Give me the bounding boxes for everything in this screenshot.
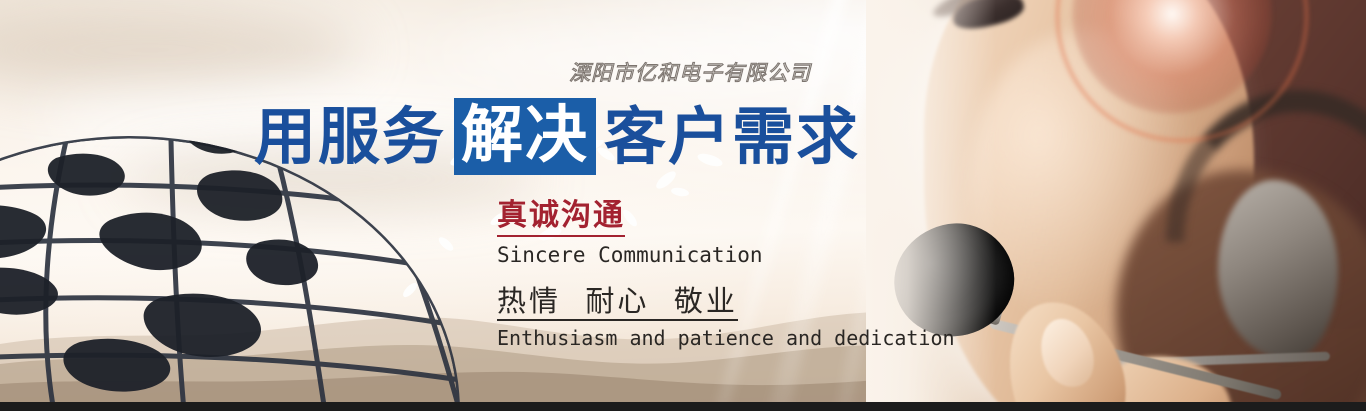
headline-part-before: 用服务 bbox=[252, 106, 448, 168]
headline-highlight: 解决 bbox=[454, 98, 596, 175]
company-name: 溧阳市亿和电子有限公司 bbox=[569, 57, 811, 87]
hero-banner: 溧阳市亿和电子有限公司 用服务 解决 客户需求 真诚沟通 Sincere Com… bbox=[0, 0, 1366, 411]
bottom-bar bbox=[0, 402, 1366, 411]
slogan-cn-sincere: 真诚沟通 bbox=[497, 199, 625, 237]
cloud-shape bbox=[0, 10, 360, 90]
headline-part-after: 客户需求 bbox=[602, 106, 862, 168]
headline: 用服务 解决 客户需求 bbox=[252, 98, 862, 175]
slogan-cn-enthusiasm: 热情 耐心 敬业 bbox=[497, 285, 738, 321]
slogan-en-enthusiasm: Enthusiasm and patience and dedication bbox=[497, 327, 955, 349]
slogan-en-sincere: Sincere Communication bbox=[497, 244, 955, 267]
slogan-block: 真诚沟通 Sincere Communication 热情 耐心 敬业 Enth… bbox=[497, 199, 955, 349]
